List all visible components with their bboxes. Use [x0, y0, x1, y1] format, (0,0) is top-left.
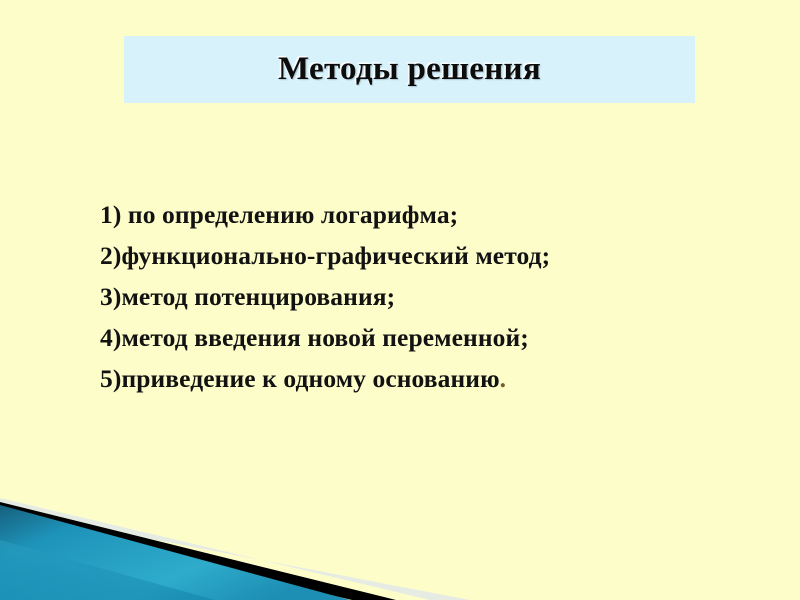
corner-bands-decoration [0, 480, 470, 600]
list-item: 2)функционально-графический метод; [100, 235, 760, 276]
list-item: 3)метод потенцирования; [100, 276, 760, 317]
slide-title-box: Методы решения [124, 36, 695, 103]
page-title: Методы решения [278, 53, 541, 86]
teal-wedge-shade [0, 540, 215, 600]
black-stripe [0, 502, 396, 600]
list-item-text: 5)приведение к одному основанию [100, 364, 500, 393]
light-stripe [0, 498, 470, 600]
list-item: 5)приведение к одному основанию. [100, 358, 760, 399]
final-period: . [500, 364, 506, 393]
corner-bands-svg [0, 480, 470, 600]
teal-wedge [0, 505, 350, 600]
slide-canvas: Методы решения 1) по определению логариф… [0, 0, 800, 600]
list-item: 4)метод введения новой переменной; [100, 317, 760, 358]
list-item: 1) по определению логарифма; [100, 194, 760, 235]
methods-list: 1) по определению логарифма; 2)функциона… [100, 194, 760, 399]
